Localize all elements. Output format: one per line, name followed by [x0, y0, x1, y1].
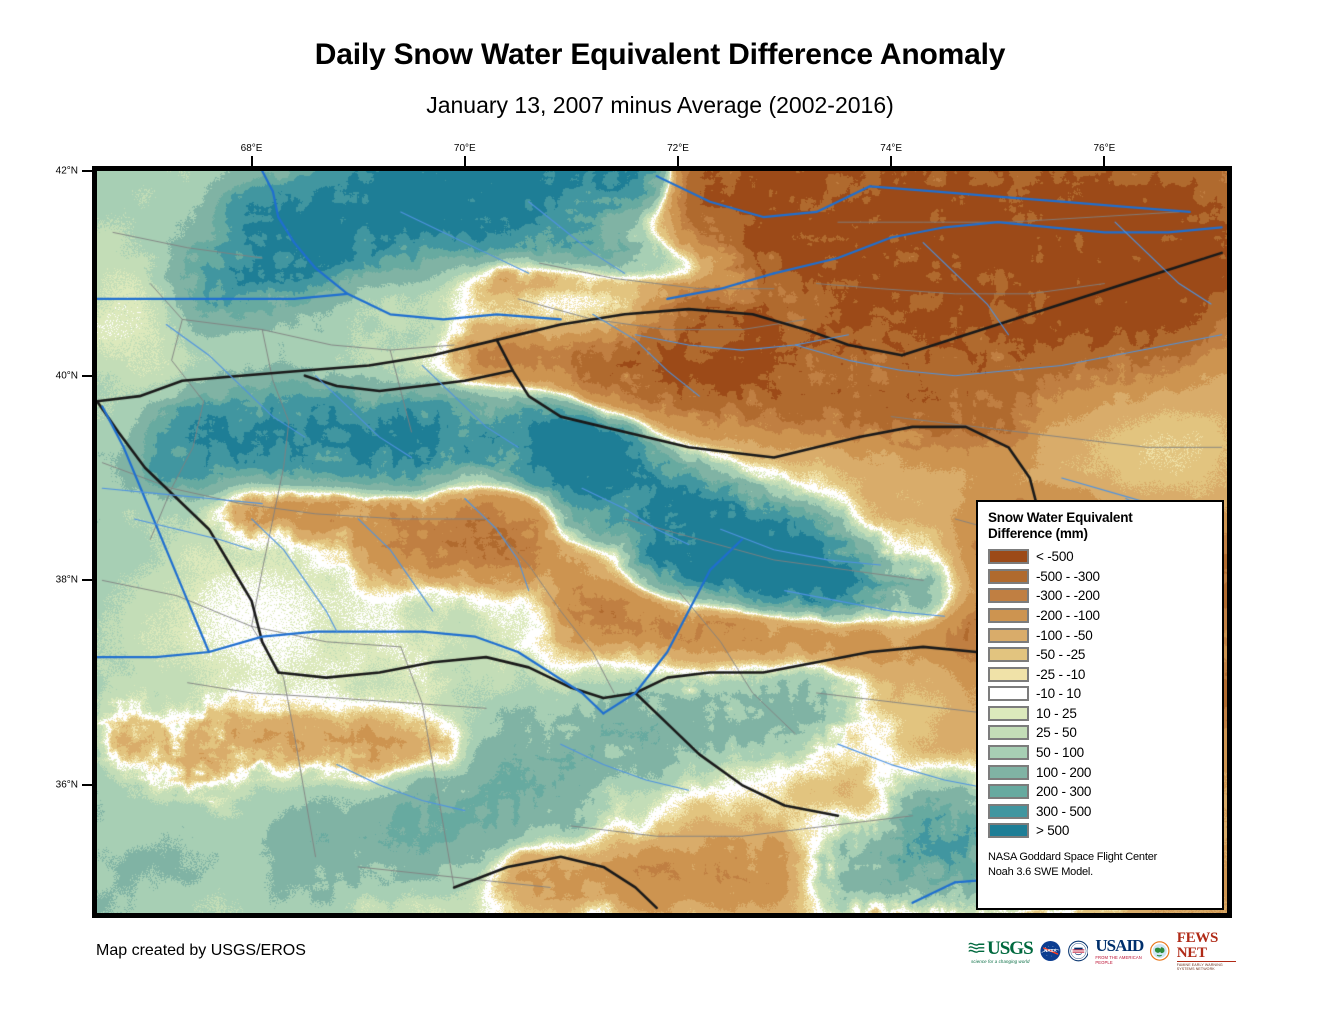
fewsnet-logo: FEWS NET FAMINE EARLY WARNING SYSTEMS NE…	[1177, 936, 1236, 966]
legend-item-label: 25 - 50	[1036, 725, 1077, 740]
lat-tick-mark	[82, 375, 92, 377]
lon-tick-mark	[890, 156, 892, 166]
legend-item: -500 - -300	[988, 566, 1222, 586]
agency-logo-bar: USGS science for a changing world NASA U…	[968, 932, 1236, 970]
lon-tick-label: 70°E	[454, 143, 476, 154]
legend-item-label: > 500	[1036, 823, 1069, 838]
legend-item-label: -500 - -300	[1036, 569, 1100, 584]
page-title: Daily Snow Water Equivalent Difference A…	[0, 38, 1320, 72]
legend-title-line2: Difference (mm)	[988, 526, 1222, 542]
legend-item-label: 200 - 300	[1036, 784, 1091, 799]
legend-title-line1: Snow Water Equivalent	[988, 510, 1222, 526]
usgs-wordmark: USGS	[987, 939, 1033, 958]
legend-item-label: 50 - 100	[1036, 745, 1084, 760]
lat-tick-label: 40°N	[56, 370, 78, 381]
legend-swatch	[988, 549, 1029, 564]
lon-tick-label: 76°E	[1093, 143, 1115, 154]
legend-item: -50 - -25	[988, 645, 1222, 665]
map-legend: Snow Water Equivalent Difference (mm) < …	[976, 500, 1224, 910]
lon-tick-mark	[677, 156, 679, 166]
lat-tick-mark	[82, 170, 92, 172]
fewsnet-globe-icon	[1150, 936, 1169, 966]
fewsnet-tagline: FAMINE EARLY WARNING SYSTEMS NETWORK	[1177, 963, 1236, 971]
legend-item-list: < -500-500 - -300-300 - -200-200 - -100-…	[988, 547, 1222, 841]
legend-item-label: -300 - -200	[1036, 588, 1100, 603]
legend-item: 300 - 500	[988, 802, 1222, 822]
lat-tick-mark	[82, 784, 92, 786]
legend-item-label: -200 - -100	[1036, 608, 1100, 623]
legend-item-label: 300 - 500	[1036, 804, 1091, 819]
lon-tick-label: 68°E	[241, 143, 263, 154]
legend-item: 200 - 300	[988, 782, 1222, 802]
svg-text:NASA: NASA	[1044, 948, 1057, 953]
page-subtitle: January 13, 2007 minus Average (2002-201…	[0, 92, 1320, 119]
legend-swatch	[988, 823, 1029, 838]
legend-item: > 500	[988, 821, 1222, 841]
legend-item-label: -10 - 10	[1036, 686, 1081, 701]
lat-tick-label: 42°N	[56, 166, 78, 177]
lon-tick-mark	[251, 156, 253, 166]
legend-swatch	[988, 628, 1029, 643]
legend-swatch	[988, 686, 1029, 701]
usgs-logo: USGS science for a changing world	[968, 936, 1033, 966]
legend-item-label: 100 - 200	[1036, 765, 1091, 780]
legend-source-line1: NASA Goddard Space Flight Center	[988, 850, 1222, 865]
lon-tick-mark	[464, 156, 466, 166]
usgs-wave-icon	[968, 940, 985, 957]
usaid-tagline: FROM THE AMERICAN PEOPLE	[1095, 955, 1143, 965]
legend-swatch	[988, 765, 1029, 780]
fewsnet-wordmark: FEWS NET	[1177, 931, 1236, 962]
legend-swatch	[988, 804, 1029, 819]
legend-source-line2: Noah 3.6 SWE Model.	[988, 865, 1222, 880]
lat-tick-label: 36°N	[56, 780, 78, 791]
legend-swatch	[988, 588, 1029, 603]
legend-item: 100 - 200	[988, 762, 1222, 782]
legend-swatch	[988, 706, 1029, 721]
usaid-seal-icon	[1068, 936, 1089, 966]
legend-swatch	[988, 569, 1029, 584]
legend-swatch	[988, 784, 1029, 799]
lon-tick-label: 72°E	[667, 143, 689, 154]
legend-item: -100 - -50	[988, 625, 1222, 645]
legend-item-label: 10 - 25	[1036, 706, 1077, 721]
legend-item: -300 - -200	[988, 586, 1222, 606]
legend-item: -25 - -10	[988, 664, 1222, 684]
legend-item-label: -100 - -50	[1036, 628, 1093, 643]
legend-swatch	[988, 608, 1029, 623]
legend-item-label: -50 - -25	[1036, 647, 1085, 662]
legend-item: -10 - 10	[988, 684, 1222, 704]
legend-item: 10 - 25	[988, 704, 1222, 724]
lat-tick-label: 38°N	[56, 575, 78, 586]
map-credit: Map created by USGS/EROS	[96, 942, 306, 960]
legend-title: Snow Water Equivalent Difference (mm)	[988, 510, 1222, 542]
legend-swatch	[988, 647, 1029, 662]
legend-item-label: -25 - -10	[1036, 667, 1085, 682]
legend-item: 50 - 100	[988, 743, 1222, 763]
legend-source-note: NASA Goddard Space Flight Center Noah 3.…	[988, 850, 1222, 880]
legend-item: -200 - -100	[988, 606, 1222, 626]
nasa-logo: NASA	[1040, 936, 1061, 966]
legend-item: 25 - 50	[988, 723, 1222, 743]
legend-swatch	[988, 745, 1029, 760]
usgs-tagline: science for a changing world	[971, 959, 1029, 964]
legend-item-label: < -500	[1036, 549, 1073, 564]
lon-tick-mark	[1103, 156, 1105, 166]
legend-swatch	[988, 667, 1029, 682]
usaid-logo: USAID FROM THE AMERICAN PEOPLE	[1095, 936, 1143, 966]
lat-tick-mark	[82, 579, 92, 581]
lon-tick-label: 74°E	[880, 143, 902, 154]
usaid-wordmark: USAID	[1095, 937, 1143, 954]
legend-swatch	[988, 725, 1029, 740]
legend-item: < -500	[988, 547, 1222, 567]
